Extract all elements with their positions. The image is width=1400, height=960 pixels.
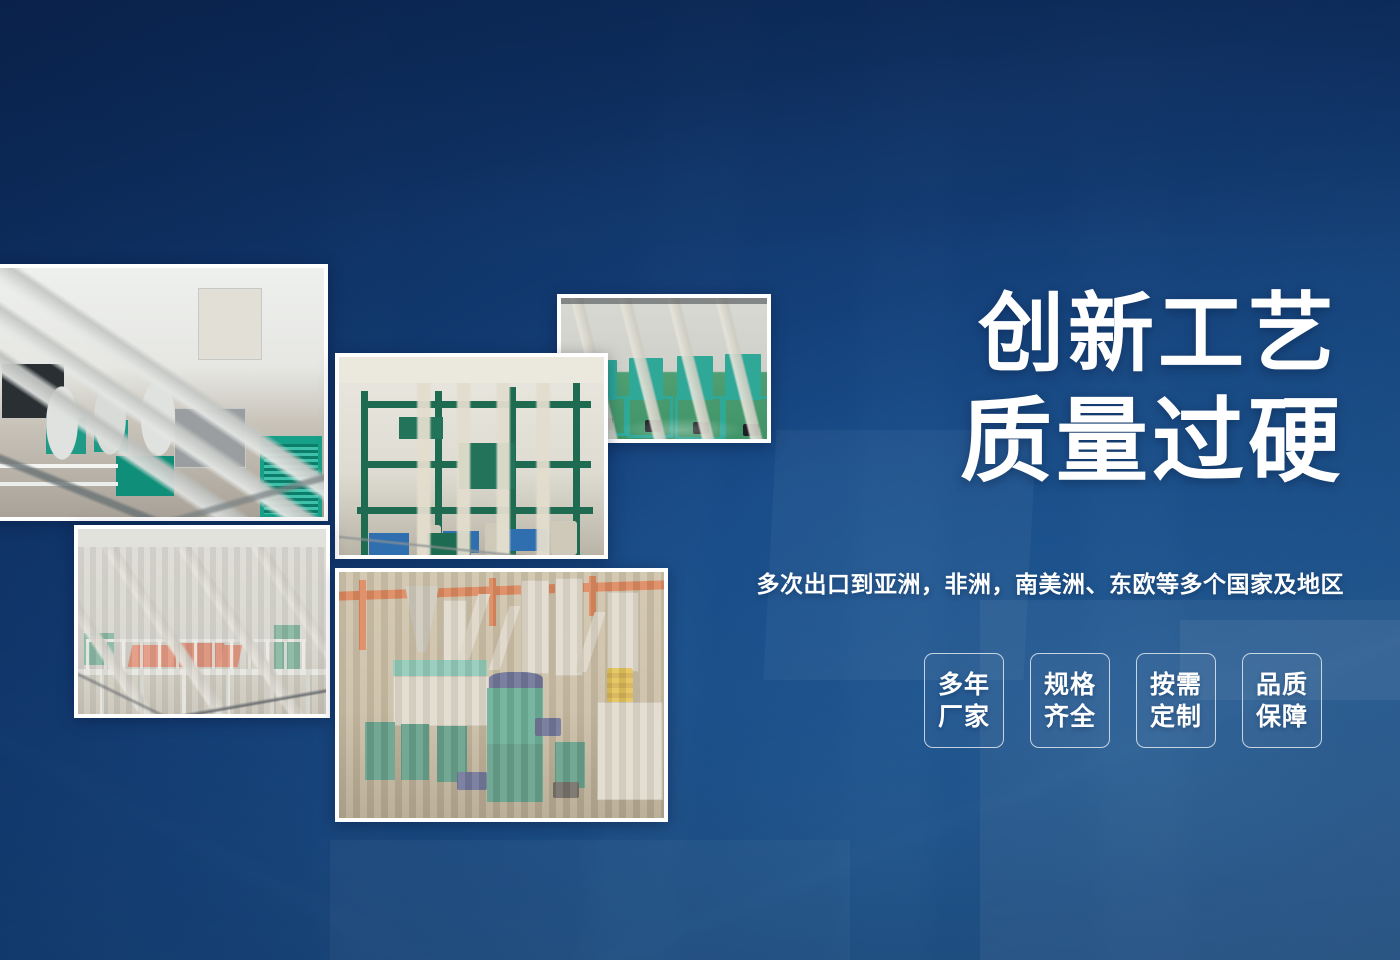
feature-pill-an-xu-ding-zhi[interactable]: 按需 定制 bbox=[1136, 653, 1216, 748]
text-content: 创新工艺 质量过硬 多次出口到亚洲，非洲，南美洲、东欧等多个国家及地区 多年 厂… bbox=[0, 0, 1400, 960]
feature-pill-pin-zhi-bao-zhang[interactable]: 品质 保障 bbox=[1242, 653, 1322, 748]
subtitle: 多次出口到亚洲，非洲，南美洲、东欧等多个国家及地区 bbox=[644, 565, 1344, 599]
headline-line-1: 创新工艺 bbox=[704, 286, 1344, 382]
pill-line-2: 定制 bbox=[1150, 701, 1202, 733]
feature-pill-group: 多年 厂家 规格 齐全 按需 定制 品质 保障 bbox=[924, 653, 1322, 748]
promo-banner: 创新工艺 质量过硬 多次出口到亚洲，非洲，南美洲、东欧等多个国家及地区 多年 厂… bbox=[0, 0, 1400, 960]
pill-line-1: 按需 bbox=[1150, 669, 1202, 701]
pill-line-2: 厂家 bbox=[938, 701, 990, 733]
pill-line-2: 齐全 bbox=[1044, 701, 1096, 733]
pill-line-1: 多年 bbox=[938, 669, 990, 701]
pill-line-2: 保障 bbox=[1256, 701, 1308, 733]
headline: 创新工艺 质量过硬 bbox=[704, 286, 1344, 493]
pill-line-1: 规格 bbox=[1044, 669, 1096, 701]
headline-line-2: 质量过硬 bbox=[704, 390, 1344, 493]
feature-pill-gui-ge-qi-quan[interactable]: 规格 齐全 bbox=[1030, 653, 1110, 748]
feature-pill-duo-nian-chang-jia[interactable]: 多年 厂家 bbox=[924, 653, 1004, 748]
pill-line-1: 品质 bbox=[1256, 669, 1308, 701]
